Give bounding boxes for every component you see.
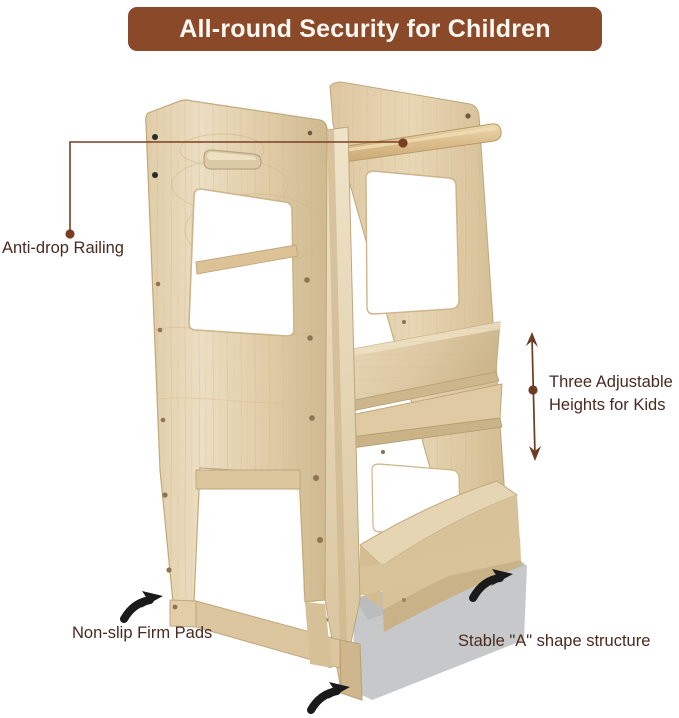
heights-midpoint-dot xyxy=(528,385,537,394)
heights-line-1: Three Adjustable xyxy=(549,371,679,394)
banner-title: All-round Security for Children xyxy=(179,15,551,44)
heights-line-2: Heights for Kids xyxy=(549,394,679,417)
callout-label-stable-a-shape-structure: Stable "A" shape structure xyxy=(458,631,650,652)
product-illustration xyxy=(0,0,679,718)
bottom-foot-curved-arrow xyxy=(311,682,350,710)
front-right-leg-post xyxy=(325,127,360,690)
title-banner: All-round Security for Children xyxy=(128,7,602,51)
illustration-canvas: All-round Security for Children Anti-dro… xyxy=(0,0,679,718)
pads-curved-arrow xyxy=(124,591,163,619)
callout-label-three-adjustable-heights: Three Adjustable Heights for Kids xyxy=(549,371,679,417)
callout-label-non-slip-firm-pads: Non-slip Firm Pads xyxy=(72,623,212,644)
callout-label-anti-drop-railing: Anti-drop Railing xyxy=(2,238,124,259)
leader-dot-end xyxy=(398,138,407,147)
heights-double-arrow xyxy=(526,332,541,461)
tower-left-panel xyxy=(140,90,340,668)
